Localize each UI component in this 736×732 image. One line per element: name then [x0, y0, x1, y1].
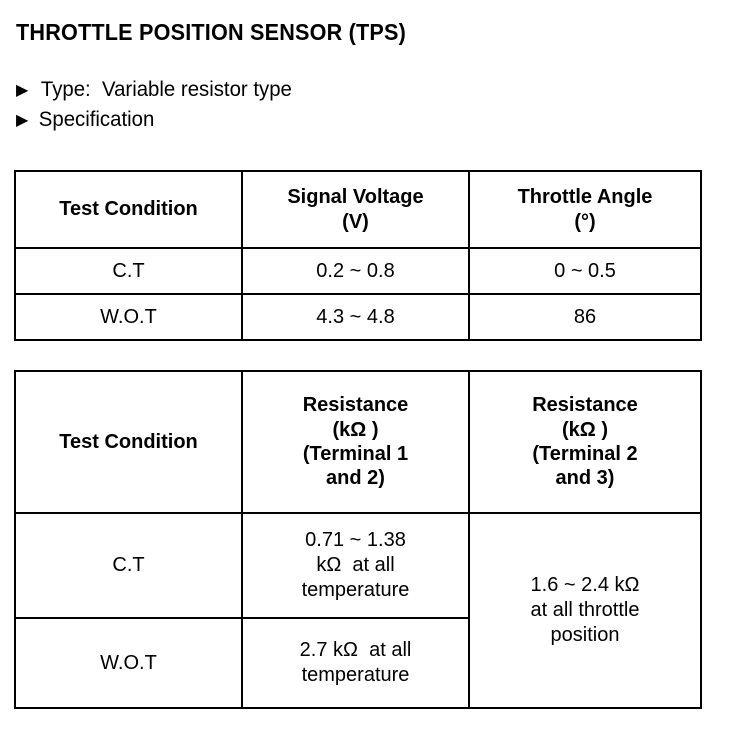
- cell-signal-voltage-wot: 4.3 ~ 4.8: [242, 294, 469, 340]
- bullet-item-type-label: Type: Variable resistor type: [41, 78, 292, 102]
- page-title: THROTTLE POSITION SENSOR (TPS): [16, 19, 406, 46]
- spec-bullet-list: ▶ Type: Variable resistor type ▶ Specifi…: [16, 78, 616, 138]
- table-row: C.T 0.71 ~ 1.38 kΩ at all temperature 1.…: [15, 513, 701, 618]
- column-header-throttle-angle: Throttle Angle (°): [469, 171, 701, 248]
- table-header-row: Test Condition Signal Voltage (V) Thrott…: [15, 171, 701, 248]
- cell-signal-voltage-ct: 0.2 ~ 0.8: [242, 248, 469, 294]
- cell-throttle-angle-ct: 0 ~ 0.5: [469, 248, 701, 294]
- table-row: C.T 0.2 ~ 0.8 0 ~ 0.5: [15, 248, 701, 294]
- cell-resistance-terminal-1-2-wot: 2.7 kΩ at all temperature: [242, 618, 469, 708]
- bullet-item-specification: ▶ Specification: [16, 108, 616, 138]
- triangle-right-icon: ▶: [16, 83, 28, 99]
- table-header-row: Test Condition Resistance (kΩ ) (Termina…: [15, 371, 701, 513]
- cell-test-condition-ct: C.T: [15, 248, 242, 294]
- column-header-test-condition: Test Condition: [15, 171, 242, 248]
- column-header-signal-voltage: Signal Voltage (V): [242, 171, 469, 248]
- cell-test-condition-ct: C.T: [15, 513, 242, 618]
- cell-test-condition-wot: W.O.T: [15, 618, 242, 708]
- column-header-resistance-terminal-1-2: Resistance (kΩ ) (Terminal 1 and 2): [242, 371, 469, 513]
- cell-throttle-angle-wot: 86: [469, 294, 701, 340]
- bullet-item-specification-label: Specification: [39, 108, 155, 132]
- resistance-table: Test Condition Resistance (kΩ ) (Termina…: [14, 370, 702, 709]
- cell-resistance-terminal-1-2-ct: 0.71 ~ 1.38 kΩ at all temperature: [242, 513, 469, 618]
- bullet-item-type: ▶ Type: Variable resistor type: [16, 78, 616, 108]
- column-header-test-condition: Test Condition: [15, 371, 242, 513]
- cell-resistance-terminal-2-3-merged: 1.6 ~ 2.4 kΩ at all throttle position: [469, 513, 701, 708]
- signal-voltage-table: Test Condition Signal Voltage (V) Thrott…: [14, 170, 702, 341]
- table-row: W.O.T 4.3 ~ 4.8 86: [15, 294, 701, 340]
- column-header-resistance-terminal-2-3: Resistance (kΩ ) (Terminal 2 and 3): [469, 371, 701, 513]
- triangle-right-icon: ▶: [16, 113, 28, 129]
- cell-test-condition-wot: W.O.T: [15, 294, 242, 340]
